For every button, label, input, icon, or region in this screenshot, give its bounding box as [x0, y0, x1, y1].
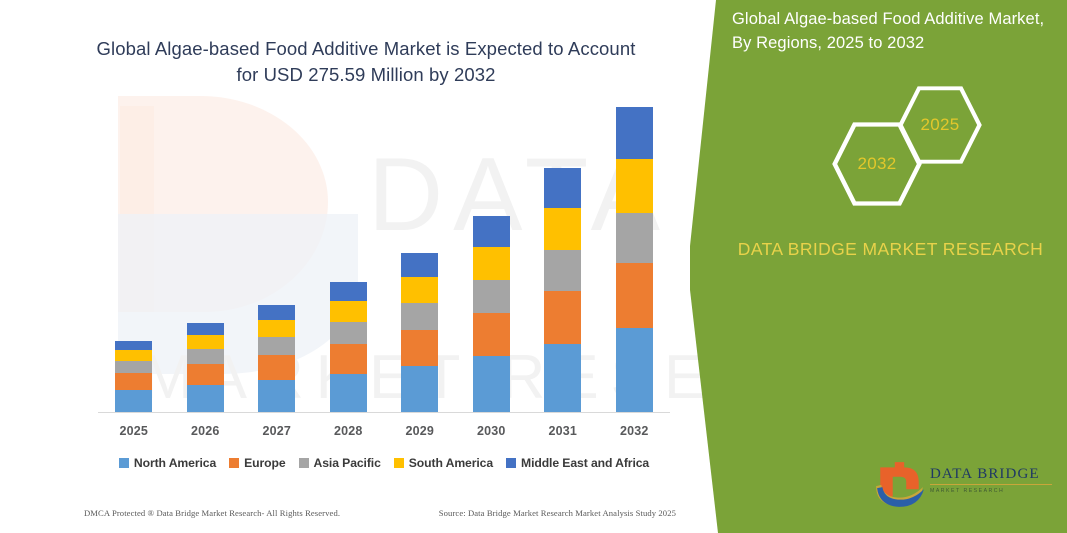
bar-segment: [187, 335, 224, 349]
footer-copyright: DMCA Protected ® Data Bridge Market Rese…: [84, 508, 340, 518]
bar-segment: [473, 280, 510, 313]
bar-segment: [401, 330, 438, 366]
stacked-bar: [258, 305, 295, 412]
bar-segment: [544, 208, 581, 250]
legend-item: Europe: [229, 456, 285, 470]
bar-segment: [616, 328, 653, 412]
legend-swatch: [394, 458, 404, 468]
bar-column: [456, 112, 528, 412]
legend-swatch: [229, 458, 239, 468]
legend-label: South America: [409, 456, 493, 470]
bar-segment: [330, 282, 367, 301]
bar-segment: [187, 364, 224, 385]
hexagon-label-2032: 2032: [857, 154, 896, 174]
x-axis-labels: 20252026202720282029203020312032: [98, 424, 670, 438]
bar-segment: [258, 337, 295, 355]
bar-segment: [616, 263, 653, 328]
hexagon-badge-2025: 2025: [898, 86, 982, 164]
legend-item: North America: [119, 456, 216, 470]
hexagon-label-2025: 2025: [920, 115, 959, 135]
bar-segment: [616, 213, 653, 263]
bar-segment: [401, 253, 438, 277]
bar-segment: [544, 291, 581, 344]
stacked-bar: [401, 253, 438, 412]
x-axis-label: 2031: [527, 424, 599, 438]
stacked-bar: [544, 168, 581, 412]
x-axis-line: [98, 412, 670, 413]
bar-segment: [115, 350, 152, 361]
stacked-bar: [616, 107, 653, 412]
x-axis-label: 2025: [98, 424, 170, 438]
x-axis-label: 2026: [170, 424, 242, 438]
legend-label: Europe: [244, 456, 285, 470]
data-bridge-logo-text: DATA BRIDGE MARKET RESEARCH: [930, 466, 1054, 494]
bar-segment: [473, 313, 510, 356]
logo-subtitle: MARKET RESEARCH: [930, 488, 1054, 494]
bar-segment: [258, 320, 295, 337]
legend-item: Asia Pacific: [299, 456, 381, 470]
bar-segment: [616, 159, 653, 213]
legend-label: Middle East and Africa: [521, 456, 649, 470]
bar-column: [241, 112, 313, 412]
logo-divider: [930, 484, 1052, 485]
bar-segment: [473, 356, 510, 412]
bar-segment: [258, 380, 295, 412]
bar-column: [384, 112, 456, 412]
stacked-bar: [330, 282, 367, 412]
hexagon-badges: 2032 2025: [814, 86, 994, 206]
bar-group: [98, 112, 670, 412]
stacked-bar: [473, 216, 510, 412]
legend-label: North America: [134, 456, 216, 470]
data-bridge-logo: DATA BRIDGE MARKET RESEARCH: [874, 460, 1054, 512]
footer-source: Source: Data Bridge Market Research Mark…: [439, 508, 676, 518]
bar-segment: [544, 168, 581, 208]
brand-name: DATA BRIDGE MARKET RESEARCH: [734, 236, 1047, 262]
x-axis-label: 2029: [384, 424, 456, 438]
bar-segment: [187, 323, 224, 335]
bar-segment: [115, 373, 152, 390]
bar-segment: [544, 344, 581, 412]
bar-segment: [330, 344, 367, 374]
bar-segment: [473, 247, 510, 280]
chart-panel: Global Algae-based Food Additive Market …: [0, 0, 714, 533]
chart-legend: North AmericaEuropeAsia PacificSouth Ame…: [98, 456, 670, 470]
bar-column: [170, 112, 242, 412]
panel-title: Global Algae-based Food Additive Market,…: [732, 8, 1048, 56]
x-axis-label: 2027: [241, 424, 313, 438]
bar-segment: [401, 366, 438, 412]
legend-label: Asia Pacific: [314, 456, 381, 470]
legend-swatch: [506, 458, 516, 468]
bar-segment: [330, 301, 367, 322]
bar-chart-plot: [98, 112, 670, 412]
stacked-bar: [187, 323, 224, 412]
legend-item: South America: [394, 456, 493, 470]
bar-segment: [258, 355, 295, 380]
stacked-bar: [115, 341, 152, 412]
bar-segment: [330, 322, 367, 344]
bar-column: [527, 112, 599, 412]
x-axis-label: 2028: [313, 424, 385, 438]
bar-segment: [187, 349, 224, 364]
bar-segment: [401, 277, 438, 303]
data-bridge-mark-icon: [874, 460, 926, 508]
x-axis-label: 2030: [456, 424, 528, 438]
x-axis-label: 2032: [599, 424, 671, 438]
bar-segment: [544, 250, 581, 291]
footer: DMCA Protected ® Data Bridge Market Rese…: [84, 508, 676, 518]
legend-swatch: [119, 458, 129, 468]
bar-segment: [258, 305, 295, 320]
bar-segment: [187, 385, 224, 412]
bar-segment: [115, 361, 152, 373]
bar-segment: [115, 390, 152, 412]
legend-swatch: [299, 458, 309, 468]
green-panel-content: Global Algae-based Food Additive Market,…: [714, 0, 1067, 533]
logo-title: DATA BRIDGE: [930, 466, 1054, 483]
bar-segment: [616, 107, 653, 159]
bar-segment: [330, 374, 367, 412]
infographic-root: DATA BRIDGE MARKET RESEARCH Global Algae…: [0, 0, 1067, 533]
bar-column: [313, 112, 385, 412]
bar-segment: [115, 341, 152, 350]
page-title: Global Algae-based Food Additive Market …: [96, 36, 636, 89]
bar-segment: [401, 303, 438, 330]
bar-column: [599, 112, 671, 412]
legend-item: Middle East and Africa: [506, 456, 649, 470]
bar-column: [98, 112, 170, 412]
bar-segment: [473, 216, 510, 247]
